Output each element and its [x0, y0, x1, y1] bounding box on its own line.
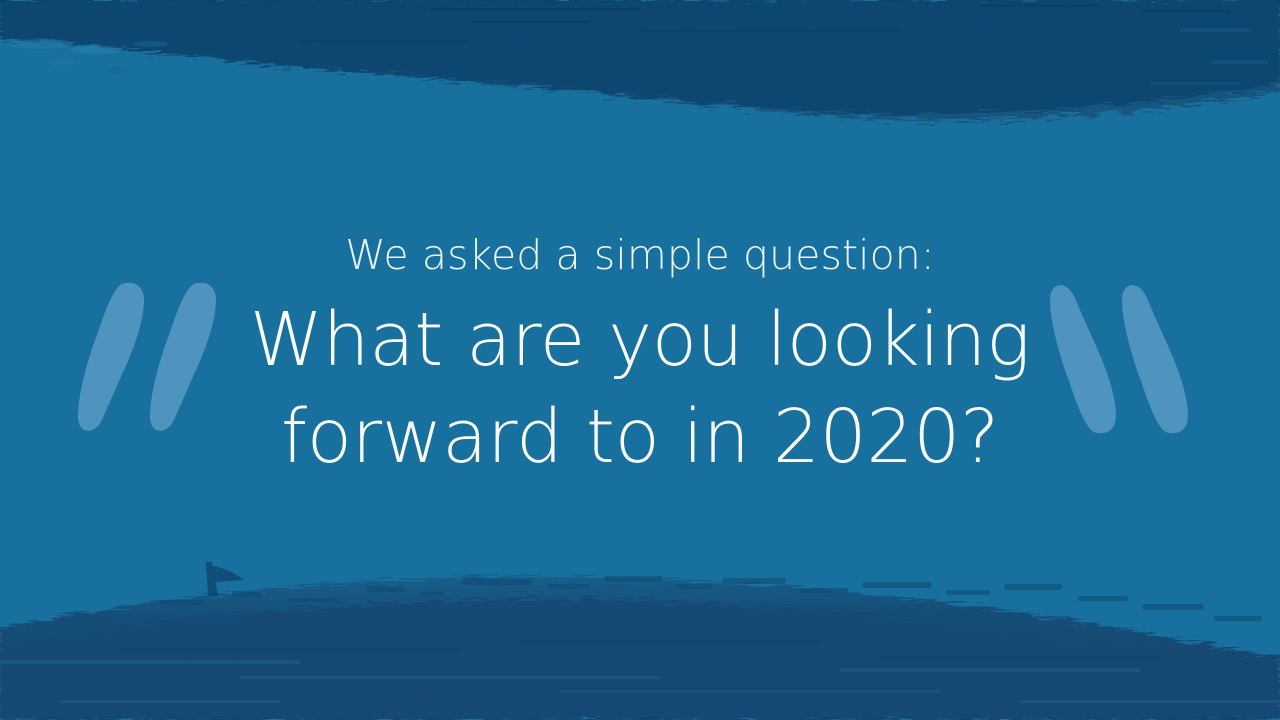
quote-text-block: We asked a simple question: What are you… [0, 0, 1280, 720]
page-title: What are you looking forward to in 2020? [250, 292, 1030, 486]
headline-line-2: forward to in 2020? [250, 389, 1030, 486]
headline-line-1: What are you looking [250, 292, 1030, 389]
eyebrow-text: We asked a simple question: [345, 235, 935, 276]
slide-canvas: We asked a simple question: What are you… [0, 0, 1280, 720]
